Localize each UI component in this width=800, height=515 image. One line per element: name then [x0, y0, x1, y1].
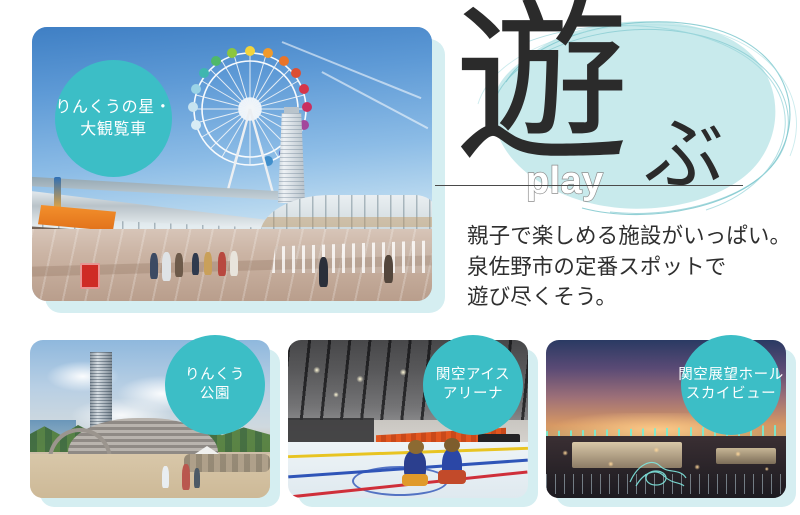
- person-silhouette: [194, 468, 200, 488]
- hero-photo[interactable]: りんくうの星・ 大観覧車: [32, 27, 432, 301]
- person-silhouette: [150, 253, 158, 279]
- person-silhouette: [384, 255, 393, 283]
- title-kanji: 遊: [454, 0, 630, 174]
- person-silhouette: [319, 257, 328, 287]
- lead-copy: 親子で楽しめる施設がいっぱい。 泉佐野市の定番スポットで 遊び尽くそう。: [467, 221, 791, 313]
- hero-feature[interactable]: りんくうの星・ 大観覧車: [32, 27, 432, 301]
- thumbnail-card-ice-arena[interactable]: 関空アイス アリーナ: [288, 340, 528, 498]
- mascot-character-skirt: [402, 474, 428, 486]
- mascot-character-head: [444, 438, 460, 452]
- lead-line-2: 泉佐野市の定番スポットで: [467, 252, 791, 283]
- thumbnail-badge-line-1: りんくう: [185, 366, 245, 385]
- neon-artwork-icon: [626, 456, 690, 490]
- arena-shadow-area: [288, 418, 374, 442]
- ferris-wheel-graphic: [182, 45, 332, 197]
- sign-pole: [54, 177, 61, 211]
- section-title: 遊 ぶ play: [448, 12, 800, 212]
- person-silhouette: [175, 253, 183, 277]
- person-silhouette: [162, 466, 169, 488]
- person-silhouette: [218, 252, 226, 276]
- mascot-character-head: [408, 440, 424, 454]
- title-divider-rule: [435, 185, 743, 186]
- hero-badge-line-2: 大観覧車: [80, 119, 147, 140]
- mascot-character-cape: [438, 470, 466, 484]
- thumbnail-badge-line-2: 公園: [200, 385, 230, 404]
- title-kana: ぶ: [644, 116, 724, 196]
- red-signboard: [80, 263, 100, 289]
- title-romaji: play: [526, 162, 604, 200]
- person-silhouette: [204, 252, 212, 275]
- lead-line-1: 親子で楽しめる施設がいっぱい。: [467, 221, 791, 252]
- thumbnail-badge[interactable]: りんくう 公園: [165, 335, 265, 435]
- thumbnail-badge[interactable]: 関空アイス アリーナ: [423, 335, 523, 435]
- lead-line-3: 遊び尽くそう。: [467, 282, 791, 313]
- thumbnail-card-rinku-park[interactable]: りんくう 公園: [30, 340, 270, 498]
- person-silhouette: [230, 251, 238, 276]
- thumbnail-card-sky-view[interactable]: 関空展望ホール スカイビュー: [546, 340, 786, 498]
- hero-badge[interactable]: りんくうの星・ 大観覧車: [55, 60, 172, 177]
- person-silhouette: [162, 252, 171, 281]
- person-silhouette: [182, 464, 190, 490]
- tower-building: [278, 113, 305, 203]
- play-section-banner: りんくうの星・ 大観覧車 遊 ぶ play 親子で楽しめる施設がいっぱい。 泉佐…: [0, 0, 800, 515]
- hero-badge-line-1: りんくうの星・: [55, 97, 171, 118]
- thumbnail-badge-line-1: 関空アイス: [436, 366, 510, 385]
- person-silhouette: [192, 253, 199, 275]
- thumbnail-badge[interactable]: 関空展望ホール スカイビュー: [681, 335, 781, 435]
- thumbnail-badge-line-1: 関空展望ホール: [678, 366, 784, 385]
- thumbnail-badge-line-2: アリーナ: [443, 385, 503, 404]
- thumbnail-badge-line-2: スカイビュー: [686, 385, 776, 404]
